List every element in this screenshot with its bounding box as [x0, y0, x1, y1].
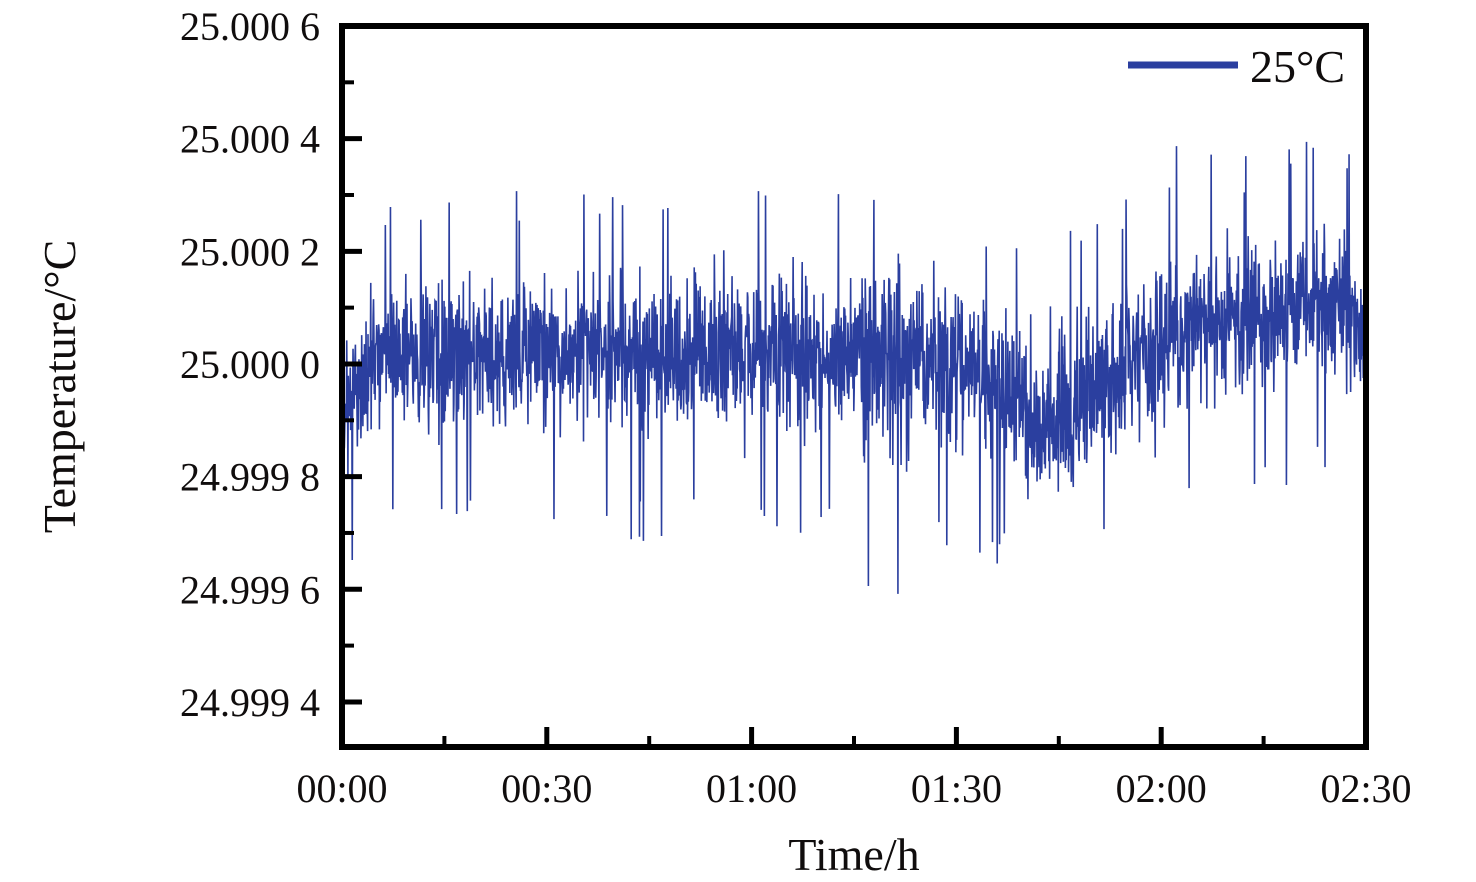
y-tick-label: 25.000 6: [180, 4, 320, 49]
x-tick-label: 01:30: [911, 766, 1002, 811]
y-tick-label: 25.000 2: [180, 229, 320, 274]
x-tick-label: 00:00: [296, 766, 387, 811]
y-tick-label: 24.999 8: [180, 455, 320, 500]
x-tick-label: 02:00: [1116, 766, 1207, 811]
y-tick-label: 25.000 4: [180, 117, 320, 162]
x-axis-title: Time/h: [788, 829, 919, 880]
x-tick-label: 02:30: [1320, 766, 1411, 811]
chart-figure: 25.000 625.000 425.000 225.000 024.999 8…: [0, 0, 1476, 882]
y-tick-label: 25.000 0: [180, 342, 320, 387]
y-tick-label: 24.999 4: [180, 680, 320, 725]
x-tick-label: 00:30: [501, 766, 592, 811]
x-tick-label: 01:00: [706, 766, 797, 811]
y-tick-label: 24.999 6: [180, 567, 320, 612]
legend-label-25c: 25°C: [1250, 41, 1345, 92]
chart-canvas: 25.000 625.000 425.000 225.000 024.999 8…: [0, 0, 1476, 882]
y-axis-title: Temperature/°C: [34, 240, 85, 534]
